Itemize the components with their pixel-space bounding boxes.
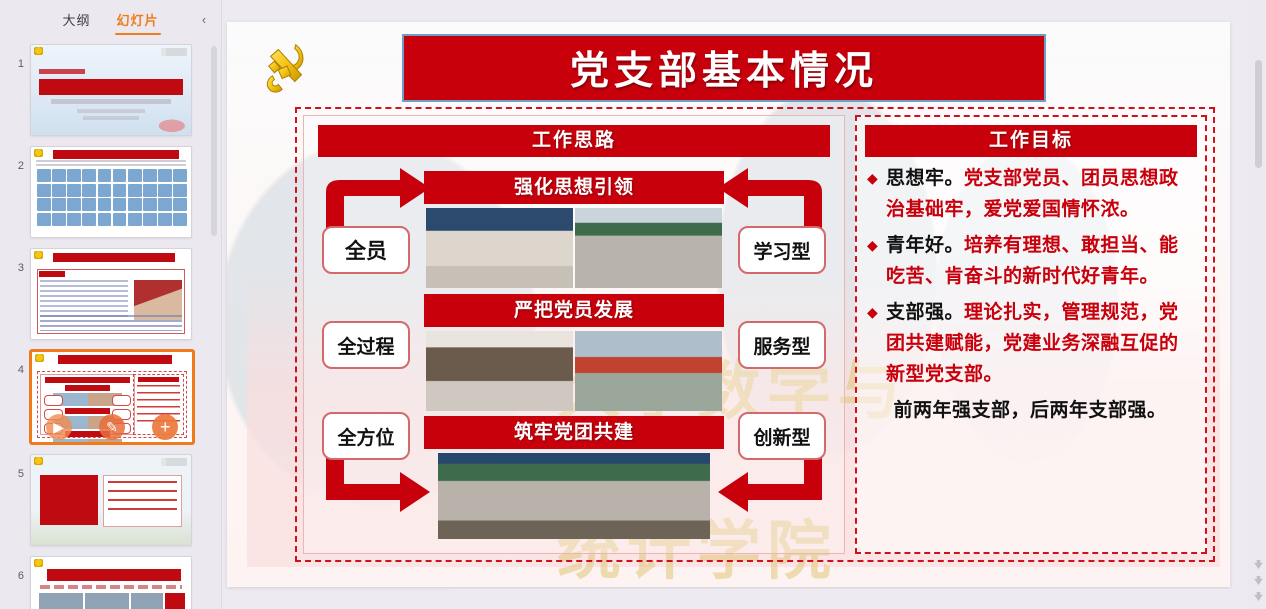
work-goals-footer: 前两年强支部，后两年支部强。 xyxy=(867,395,1193,432)
diamond-bullet-icon: ◆ xyxy=(867,163,883,194)
export-icon[interactable] xyxy=(1254,576,1263,585)
tab-slides[interactable]: 幻灯片 xyxy=(115,7,161,35)
slide-thumbnail-4[interactable]: ▶ ✎ + xyxy=(30,350,194,444)
slide-thumbnail-3[interactable] xyxy=(30,248,192,340)
list-item[interactable]: 3 xyxy=(0,244,221,346)
photo-strip-2 xyxy=(426,331,722,411)
content-panels: 工作思路 强化思想引领 严把党员发展 筑牢党团共建 xyxy=(303,115,1207,554)
slide-number: 4 xyxy=(4,350,30,376)
diamond-bullet-icon: ◆ xyxy=(867,297,883,328)
slide-number: 5 xyxy=(4,454,30,480)
download-icon[interactable] xyxy=(1254,560,1263,569)
work-goals-panel: 工作目标 ◆ 思想牢。党支部党员、团员思想政治基础牢，爱党爱国情怀浓。 ◆ 青年… xyxy=(855,115,1207,554)
slide-thumbnail-6[interactable] xyxy=(30,556,192,609)
thumbnail-preview xyxy=(31,45,191,135)
party-emblem-icon xyxy=(34,559,43,567)
thumbnail-preview xyxy=(31,557,191,609)
slide-number: 6 xyxy=(4,556,30,582)
content-frame: 工作思路 强化思想引领 严把党员发展 筑牢党团共建 xyxy=(295,107,1215,562)
work-approach-panel: 工作思路 强化思想引领 严把党员发展 筑牢党团共建 xyxy=(303,115,845,554)
sidebar-scrollbar[interactable] xyxy=(211,46,217,236)
collapse-sidebar-icon[interactable]: ‹ xyxy=(195,10,213,28)
goal-text-2: 青年好。培养有理想、敢担当、能吃苦、肯奋斗的新时代好青年。 xyxy=(886,230,1193,292)
diamond-bullet-icon: ◆ xyxy=(867,230,883,261)
sidebar-tab-bar: 大纲 幻灯片 ‹ xyxy=(0,0,221,38)
left-pill-3: 全方位 xyxy=(322,412,410,460)
tab-outline[interactable]: 大纲 xyxy=(60,7,92,35)
slide-thumbnail-5[interactable] xyxy=(30,454,192,546)
slide-navigator-sidebar: 大纲 幻灯片 ‹ 1 xyxy=(0,0,222,609)
stage-box-2: 严把党员发展 xyxy=(424,294,724,327)
play-slide-button[interactable]: ▶ xyxy=(46,414,72,440)
party-emblem-icon xyxy=(257,37,319,99)
thumbnail-preview xyxy=(31,249,191,339)
party-emblem-icon xyxy=(34,47,43,55)
presentation-editor: 大纲 幻灯片 ‹ 1 xyxy=(0,0,1266,609)
list-item[interactable]: 2 xyxy=(0,142,221,244)
list-item: ◆ 思想牢。党支部党员、团员思想政治基础牢，爱党爱国情怀浓。 xyxy=(867,163,1193,225)
right-rail xyxy=(1248,0,1266,609)
stage-box-1: 强化思想引领 xyxy=(424,171,724,204)
right-pill-2: 服务型 xyxy=(738,321,826,369)
list-item[interactable]: 1 xyxy=(0,40,221,142)
left-pill-2: 全过程 xyxy=(322,321,410,369)
slide-number: 3 xyxy=(4,248,30,274)
slide-effects-button[interactable]: ✎ xyxy=(99,414,125,440)
thumbnail-preview xyxy=(31,455,191,545)
page-title: 党支部基本情况 xyxy=(570,40,878,96)
list-item[interactable]: 6 xyxy=(0,552,221,609)
list-item: ◆ 支部强。理论扎实，管理规范，党团共建赋能，党建业务深融互促的新型党支部。 xyxy=(867,297,1193,390)
party-emblem-icon xyxy=(34,251,43,259)
goal-lead-1: 思想牢。 xyxy=(886,168,964,189)
slide-thumbnail-2[interactable] xyxy=(30,146,192,238)
photo xyxy=(426,208,573,288)
thumbnail-preview xyxy=(31,147,191,237)
party-emblem-icon xyxy=(34,457,43,465)
right-pill-3: 创新型 xyxy=(738,412,826,460)
photo xyxy=(575,208,722,288)
rail-tool-icons[interactable] xyxy=(1254,560,1263,601)
save-icon[interactable] xyxy=(1254,592,1263,601)
photo xyxy=(426,331,573,411)
current-slide-canvas[interactable]: 大学数学与 统计学院 xyxy=(227,22,1230,587)
photo xyxy=(438,453,710,539)
goal-text-3: 支部强。理论扎实，管理规范，党团共建赋能，党建业务深融互促的新型党支部。 xyxy=(886,297,1193,390)
slide-thumbnail-list[interactable]: 1 2 xyxy=(0,36,221,609)
photo xyxy=(575,331,722,411)
left-pill-1: 全员 xyxy=(322,226,410,274)
photo-strip-1 xyxy=(426,208,722,288)
party-emblem-icon xyxy=(34,149,43,157)
panel-header-work-goals: 工作目标 xyxy=(865,125,1197,157)
slide-editing-stage: 大学数学与 统计学院 xyxy=(222,0,1266,609)
photo-strip-3 xyxy=(438,453,710,539)
list-item: ◆ 青年好。培养有理想、敢担当、能吃苦、肯奋斗的新时代好青年。 xyxy=(867,230,1193,292)
slide-thumbnail-1[interactable] xyxy=(30,44,192,136)
party-emblem-icon xyxy=(35,354,44,362)
right-pill-1: 学习型 xyxy=(738,226,826,274)
goal-text-1: 思想牢。党支部党员、团员思想政治基础牢，爱党爱国情怀浓。 xyxy=(886,163,1193,225)
list-item[interactable]: 5 xyxy=(0,450,221,552)
work-goals-body: ◆ 思想牢。党支部党员、团员思想政治基础牢，爱党爱国情怀浓。 ◆ 青年好。培养有… xyxy=(857,157,1205,436)
goal-lead-3: 支部强。 xyxy=(886,302,964,323)
stage-bottom-strip xyxy=(449,589,1248,609)
list-item[interactable]: 4 xyxy=(0,346,221,450)
slide-title-banner[interactable]: 党支部基本情况 xyxy=(402,34,1046,102)
panel-header-work-approach: 工作思路 xyxy=(318,125,830,157)
stage-scrollbar[interactable] xyxy=(1255,60,1262,168)
goal-lead-2: 青年好。 xyxy=(886,235,964,256)
stage-box-3: 筑牢党团共建 xyxy=(424,416,724,449)
slide-number: 1 xyxy=(4,44,30,70)
slide-number: 2 xyxy=(4,146,30,172)
